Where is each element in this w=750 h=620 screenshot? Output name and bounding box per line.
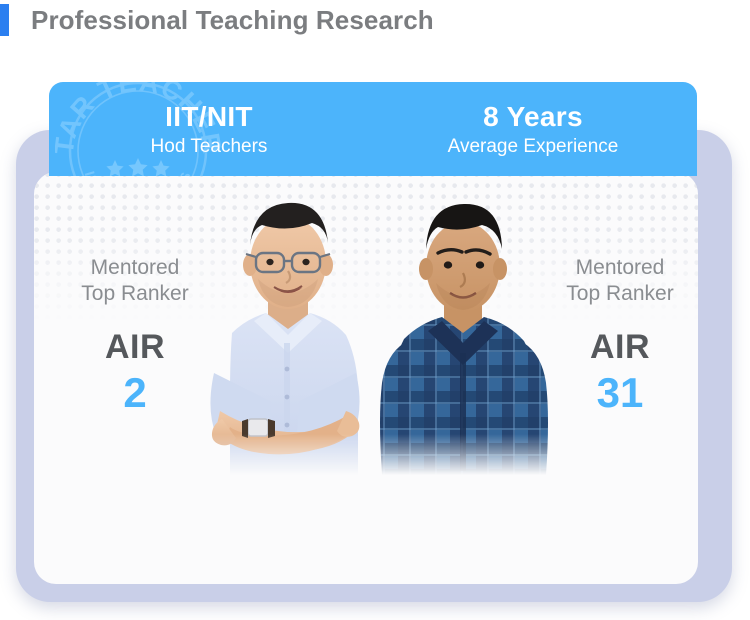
stat-label: Average Experience [369, 135, 697, 160]
stat-average-experience: 8 Years Average Experience [369, 98, 697, 160]
teacher-left [210, 203, 359, 475]
stats-banner: STAR TEACHERS IIT/NIT TEACHERS IIT/NIT H… [49, 82, 697, 176]
ranker-caption: Mentored Top Ranker [45, 255, 225, 308]
page-title: Professional Teaching Research [31, 5, 434, 36]
stat-label: Hod Teachers [49, 135, 369, 160]
air-label: AIR [530, 330, 710, 364]
ranker-stat-right: Mentored Top Ranker AIR 31 [530, 255, 710, 414]
air-label: AIR [45, 330, 225, 364]
air-rank-value: 2 [45, 372, 225, 414]
stat-value: 8 Years [369, 100, 697, 133]
svg-text:IIT/NIT TEACHERS: IIT/NIT TEACHERS [82, 169, 195, 176]
stat-value: IIT/NIT [49, 100, 369, 133]
section-heading: Professional Teaching Research [0, 0, 434, 40]
air-rank-value: 31 [530, 372, 710, 414]
teacher-right [380, 204, 548, 475]
ranker-caption: Mentored Top Ranker [530, 255, 710, 308]
heading-accent-bar [0, 4, 9, 36]
promo-card-page: Professional Teaching Research [0, 0, 750, 620]
stat-iit-nit: IIT/NIT Hod Teachers [49, 98, 369, 160]
ranker-stat-left: Mentored Top Ranker AIR 2 [45, 255, 225, 414]
